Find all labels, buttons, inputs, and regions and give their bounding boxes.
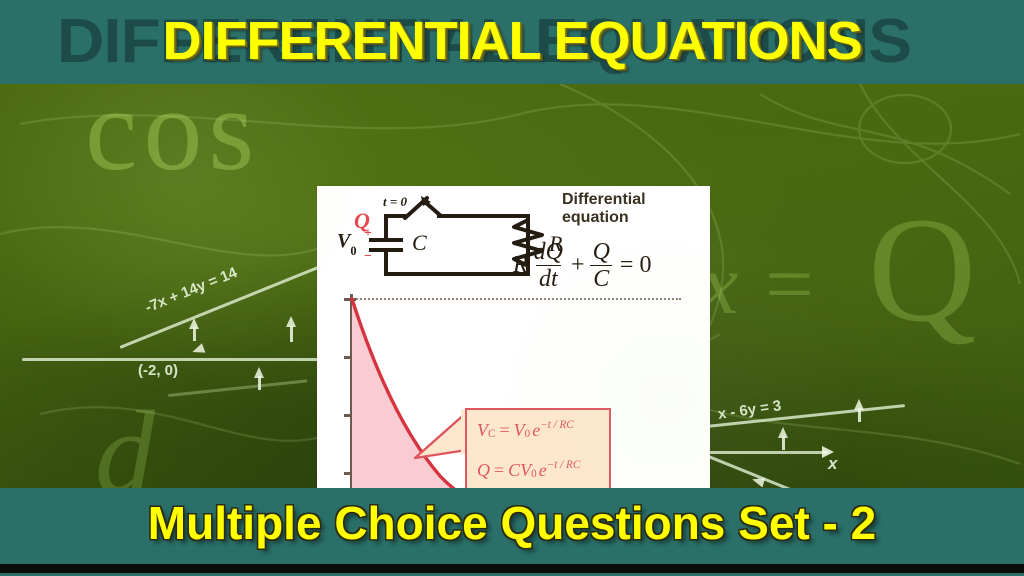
capacitor-lead-top (384, 216, 388, 238)
callout-equation-vc: VC = V0 e−t / RC (477, 420, 574, 441)
callout-q-lhs: Q (477, 460, 490, 481)
de-fraction-1: dQ dt (531, 240, 566, 291)
footer-dark-strip (0, 564, 1024, 573)
differential-equation-heading: Differential equation (562, 191, 646, 227)
slide-canvas: DIFFERENTIAL EQUATIONS DIFFERENTIAL EQUA… (0, 0, 1024, 576)
callout-q-rhs: CV (508, 460, 531, 481)
callout-vc-rhs: V (514, 420, 525, 441)
de-heading-line2: equation (562, 209, 629, 226)
differential-equation-formula: R dQ dt + Q C = 0 (513, 240, 651, 291)
de-plus: + (571, 252, 585, 279)
circuit-source-label: V0 (337, 230, 357, 256)
callout-equation-q: Q = CV0 e−t / RC (477, 460, 580, 481)
callout-vc-lhs: V (477, 420, 488, 441)
de-frac1-denominator: dt (536, 265, 561, 291)
title-group: DIFFERENTIAL EQUATIONS DIFFERENTIAL EQUA… (0, 0, 1024, 84)
callout-vc-rhs-sub: 0 (525, 428, 531, 440)
solution-callout-box: VC = V0 e−t / RC Q = CV0 e−t / RC I = (465, 408, 611, 488)
de-fraction-2: Q C (590, 240, 613, 291)
callout-vc-exp-base: e (532, 420, 540, 441)
de-frac1-numerator: dQ (531, 240, 566, 265)
callout-vc-lhs-sub: C (488, 428, 495, 440)
figure-content: t = 0 Q V0 + − C (317, 186, 710, 488)
de-heading-line1: Differential (562, 191, 646, 208)
capacitor-label: C (412, 230, 427, 256)
circuit-wire-bottom (384, 272, 530, 276)
de-equals-zero: = 0 (620, 252, 652, 279)
callout-q-exp-base: e (539, 460, 547, 481)
callout-vc-equals: = (499, 420, 509, 441)
callout-vc-exponent: −t / RC (540, 419, 574, 431)
callout-q-rhs-sub: 0 (531, 468, 537, 480)
de-frac2-numerator: Q (590, 240, 613, 265)
figure-panel: t = 0 Q V0 + − C (317, 186, 710, 488)
de-frac2-denominator: C (590, 265, 612, 291)
circuit-source-sub: 0 (350, 244, 356, 258)
page-title: DIFFERENTIAL EQUATIONS (0, 10, 1024, 72)
callout-q-exponent: −t / RC (547, 459, 581, 471)
callout-q-equals: = (494, 460, 504, 481)
circuit-source-letter: V (337, 230, 350, 252)
footer-subtitle: Multiple Choice Questions Set - 2 (0, 496, 1024, 550)
capacitor-plate-top (369, 238, 403, 242)
chalkboard-background: cos x = Q d -7x + 14y = 14 (-2, 0) x - 6… (0, 84, 1024, 488)
de-lead: R (513, 252, 528, 279)
switch-blade (401, 194, 461, 222)
